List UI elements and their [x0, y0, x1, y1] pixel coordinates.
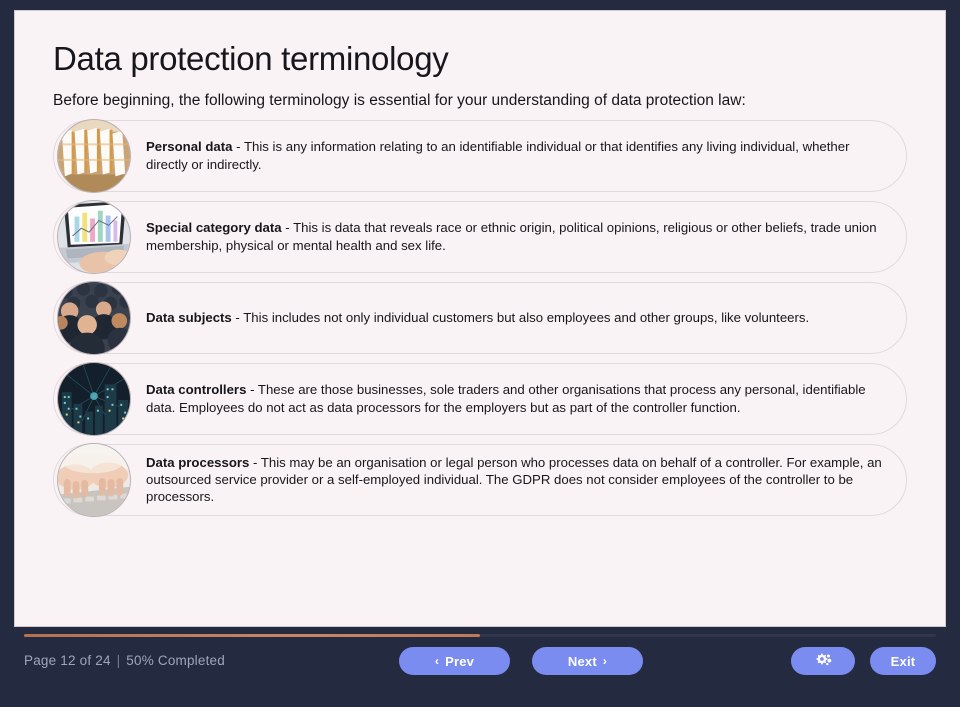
term-text: Data processors - This may be an organis…: [146, 448, 884, 512]
term-dash: -: [233, 139, 244, 154]
navigation-buttons: ‹ Prev Next ›: [399, 647, 643, 675]
hands-typing-keyboard-photo: [57, 443, 131, 517]
list-item[interactable]: Data controllers - These are those busin…: [53, 363, 907, 435]
term-text: Special category data - This is data tha…: [146, 213, 884, 260]
progress-bar-fill: [24, 634, 480, 637]
slide-subtitle: Before beginning, the following terminol…: [53, 91, 907, 110]
term-dash: -: [246, 382, 257, 397]
list-item[interactable]: Data subjects - This includes not only i…: [53, 282, 907, 354]
term-definition: This is any information relating to an i…: [146, 139, 849, 171]
prev-button[interactable]: ‹ Prev: [399, 647, 510, 675]
utility-buttons: Exit: [791, 647, 936, 675]
exit-button[interactable]: Exit: [870, 647, 936, 675]
page-number-label: Page 12 of 24: [24, 653, 111, 668]
crowd-of-people-photo: [57, 281, 131, 355]
page-status: Page 12 of 24 | 50% Completed: [24, 653, 225, 668]
completion-label: 50% Completed: [126, 653, 225, 668]
term-name: Special category data: [146, 220, 282, 235]
progress-bar-track: [24, 634, 936, 637]
presentation-viewport: Data protection terminology Before begin…: [0, 0, 960, 707]
list-item[interactable]: Personal data - This is any information …: [53, 120, 907, 192]
term-dash: -: [249, 455, 260, 470]
city-network-photo: [57, 362, 131, 436]
filing-cabinet-documents-photo: [57, 119, 131, 193]
settings-button[interactable]: [791, 647, 855, 675]
gear-icon: [814, 652, 832, 671]
prev-button-label: Prev: [445, 654, 474, 669]
next-button-label: Next: [568, 654, 597, 669]
term-name: Personal data: [146, 139, 233, 154]
term-name: Data subjects: [146, 310, 232, 325]
footer-toolbar: Page 12 of 24 | 50% Completed ‹ Prev Nex…: [0, 642, 960, 707]
term-text: Personal data - This is any information …: [146, 132, 884, 179]
term-text: Data controllers - These are those busin…: [146, 375, 884, 422]
exit-button-label: Exit: [891, 654, 916, 669]
chevron-left-icon: ‹: [435, 655, 439, 667]
term-text: Data subjects - This includes not only i…: [146, 303, 809, 332]
status-separator: |: [115, 653, 123, 668]
slide-canvas: Data protection terminology Before begin…: [14, 10, 946, 627]
terminology-list: Personal data - This is any information …: [53, 120, 907, 516]
term-name: Data processors: [146, 455, 249, 470]
next-button[interactable]: Next ›: [532, 647, 643, 675]
chevron-right-icon: ›: [603, 655, 607, 667]
list-item[interactable]: Special category data - This is data tha…: [53, 201, 907, 273]
page-title: Data protection terminology: [53, 41, 907, 77]
list-item[interactable]: Data processors - This may be an organis…: [53, 444, 907, 516]
term-dash: -: [232, 310, 243, 325]
term-name: Data controllers: [146, 382, 246, 397]
laptop-charts-photo: [57, 200, 131, 274]
term-dash: -: [282, 220, 293, 235]
term-definition: This includes not only individual custom…: [243, 310, 809, 325]
